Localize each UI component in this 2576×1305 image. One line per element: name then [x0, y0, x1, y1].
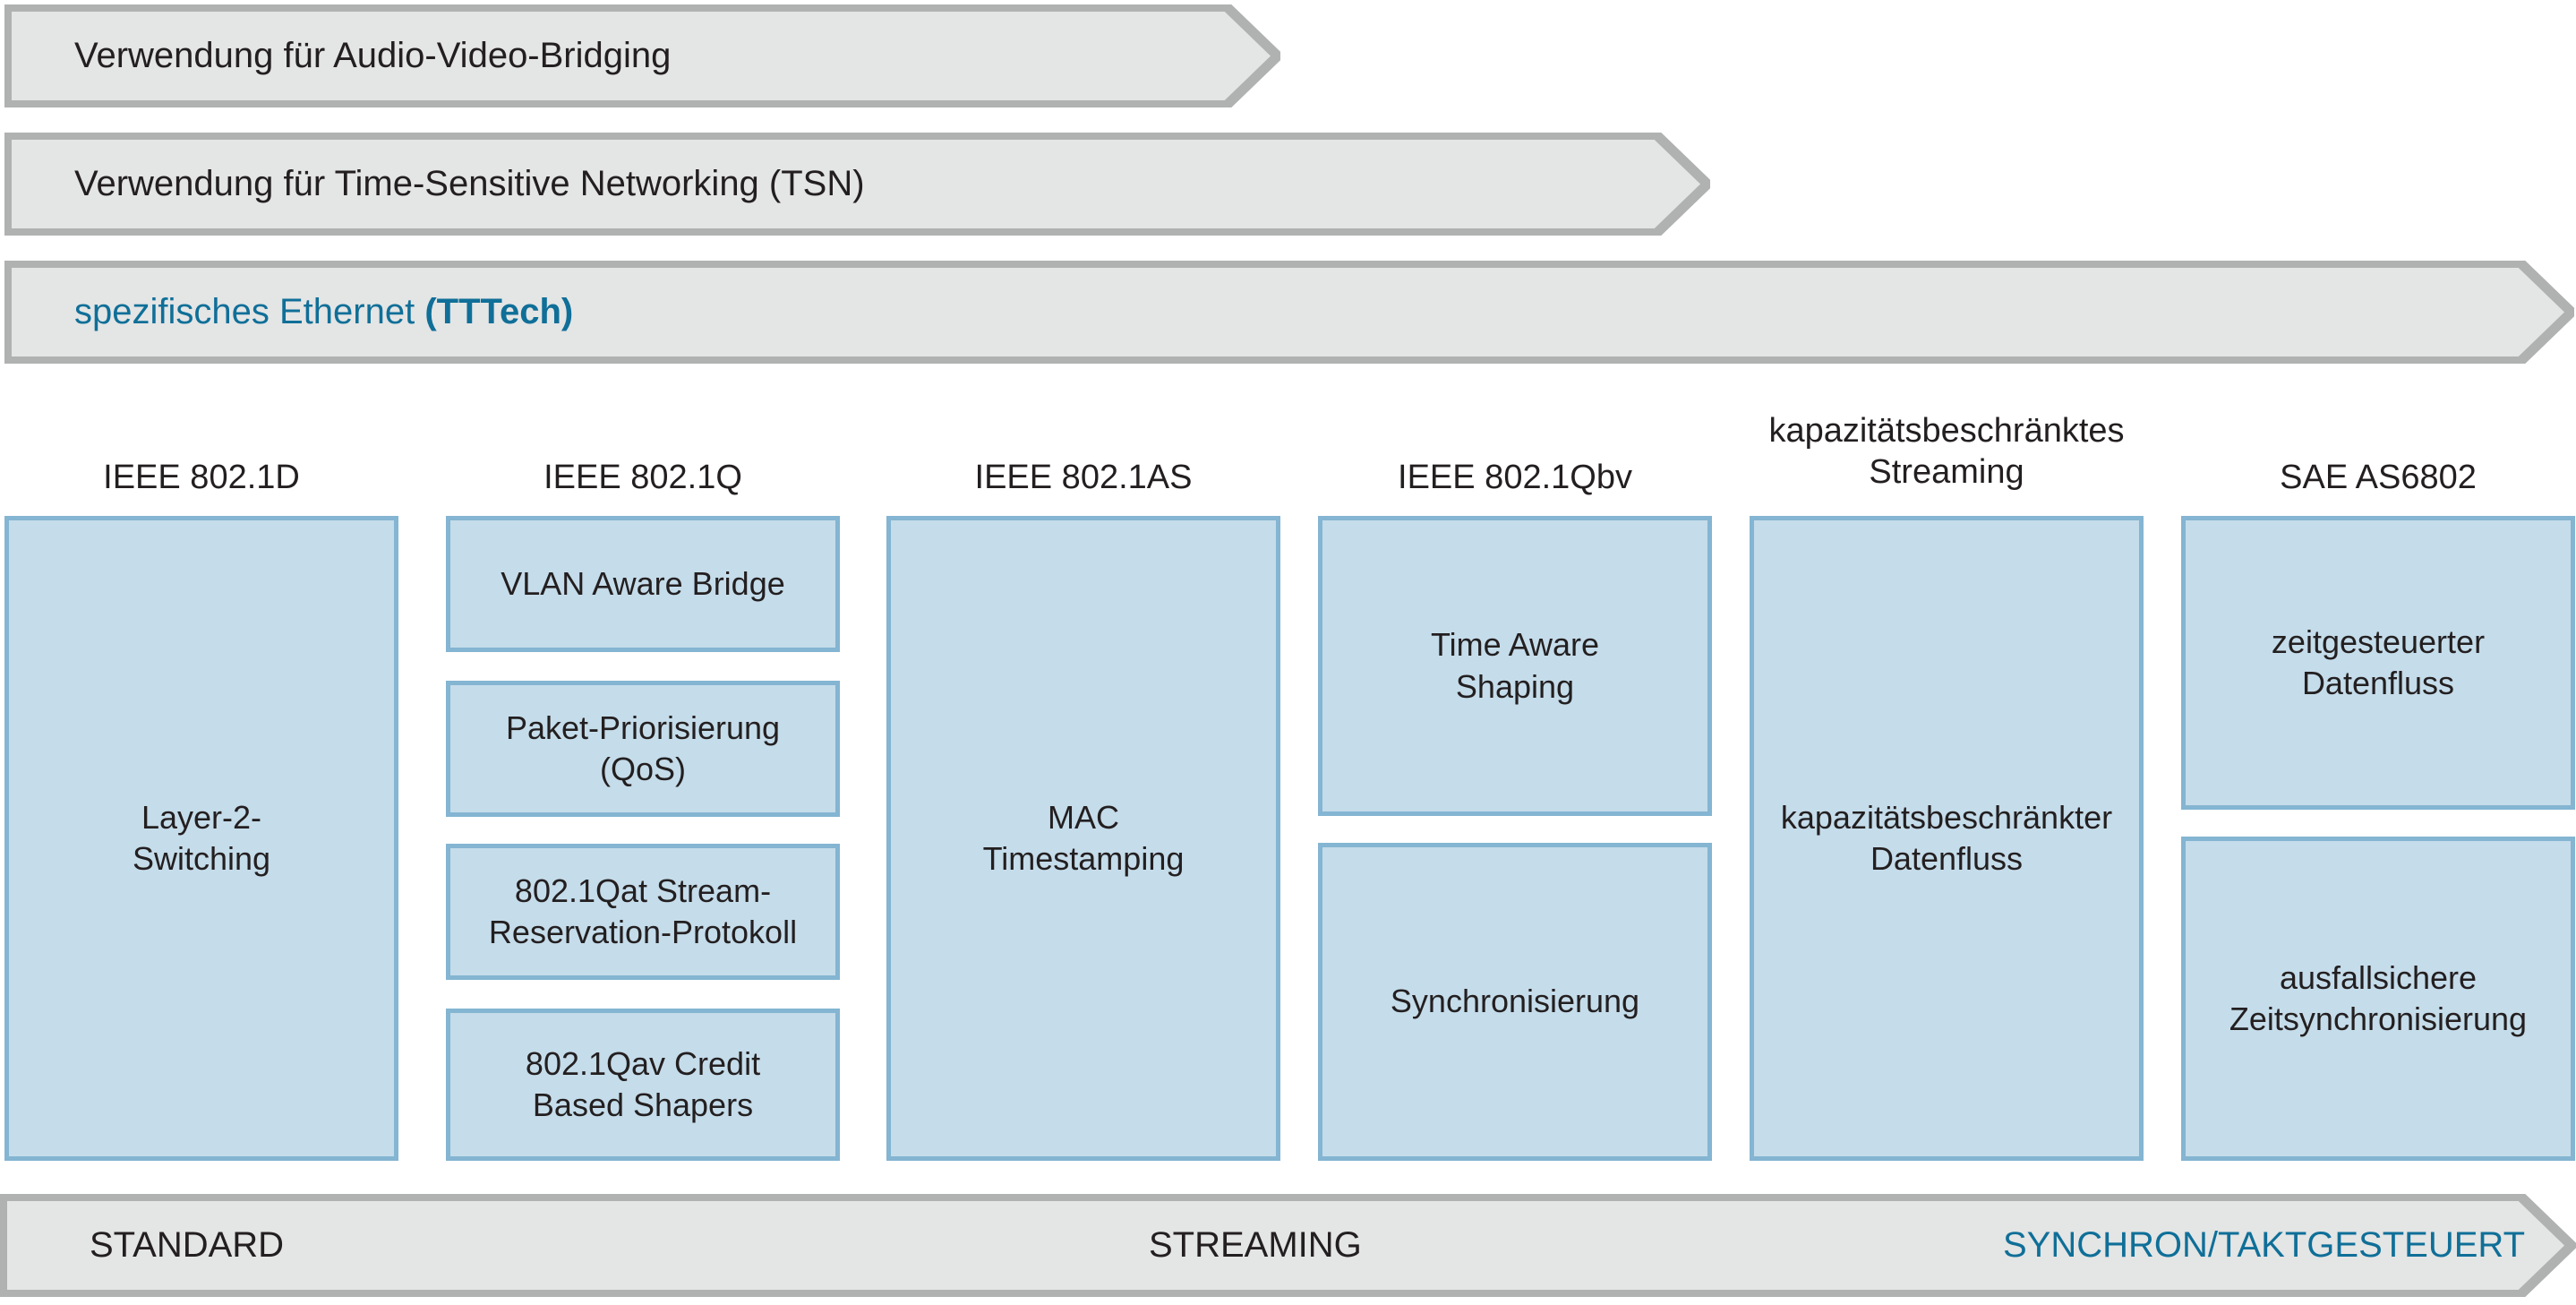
column-header-ieee-802-1d: IEEE 802.1D — [4, 457, 398, 498]
box-vlan-aware-bridge: VLAN Aware Bridge — [446, 516, 840, 652]
box-802-1qat-stream-reservation-protokoll: 802.1Qat Stream- Reservation-Protokoll — [446, 844, 840, 980]
column-header-ieee-802-1qbv: IEEE 802.1Qbv — [1318, 457, 1712, 498]
banner-label-accent: spezifisches Ethernet (TTTech) — [74, 261, 573, 364]
box-802-1qav-credit-based-shapers: 802.1Qav Credit Based Shapers — [446, 1009, 840, 1161]
column-header-sae-as6802: SAE AS6802 — [2181, 457, 2575, 498]
box-layer-2-switching: Layer-2- Switching — [4, 516, 398, 1161]
banner-label: Verwendung für Time-Sensitive Networking… — [74, 133, 865, 236]
bottom-segment-standard: STANDARD — [90, 1194, 284, 1297]
box-zeitgesteuerter-datenfluss: zeitgesteuerter Datenfluss — [2181, 516, 2575, 810]
banner-audio-video-bridging: Verwendung für Audio-Video-Bridging — [4, 4, 1280, 107]
banner-label-plain: spezifisches Ethernet — [74, 292, 424, 331]
banner-label-bold: (TTTech) — [424, 292, 573, 331]
banner-spezifisches-ethernet: spezifisches Ethernet (TTTech) — [4, 261, 2574, 364]
bottom-category-bar: STANDARD STREAMING SYNCHRON/TAKTGESTEUER… — [0, 1194, 2576, 1297]
box-mac-timestamping: MAC Timestamping — [886, 516, 1280, 1161]
column-header-ieee-802-1q: IEEE 802.1Q — [446, 457, 840, 498]
bottom-segment-synchron-taktgesteuert: SYNCHRON/TAKTGESTEUERT — [2003, 1194, 2525, 1297]
box-kapazitaetsbeschraenkter-datenfluss: kapazitätsbeschränkter Datenfluss — [1750, 516, 2144, 1161]
box-paket-priorisierung-qos: Paket-Priorisierung (QoS) — [446, 681, 840, 817]
column-header-kapazitaetsbeschraenktes-streaming: kapazitätsbeschränktes Streaming — [1750, 410, 2144, 494]
banner-label: Verwendung für Audio-Video-Bridging — [74, 4, 671, 107]
bottom-segment-streaming: STREAMING — [1149, 1194, 1362, 1297]
box-time-aware-shaping: Time Aware Shaping — [1318, 516, 1712, 816]
column-header-ieee-802-1as: IEEE 802.1AS — [886, 457, 1280, 498]
box-synchronisierung: Synchronisierung — [1318, 843, 1712, 1161]
banner-time-sensitive-networking: Verwendung für Time-Sensitive Networking… — [4, 133, 1710, 236]
box-ausfallsichere-zeitsynchronisierung: ausfallsichere Zeitsynchronisierung — [2181, 837, 2575, 1161]
